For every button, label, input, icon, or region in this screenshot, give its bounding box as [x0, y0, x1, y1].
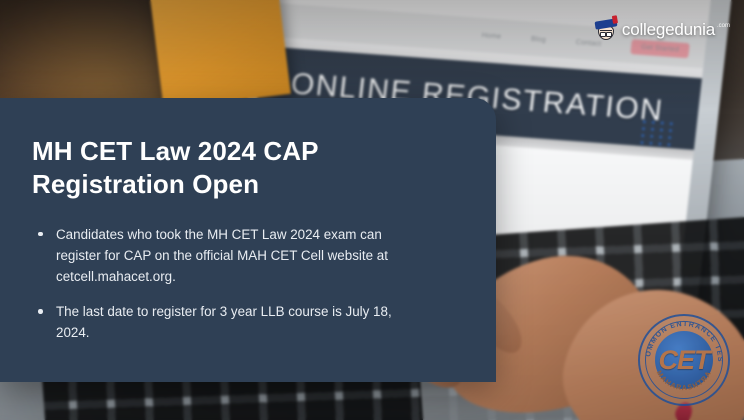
screen-nav-home: Home	[481, 32, 501, 40]
page-title: MH CET Law 2024 CAP Registration Open	[32, 135, 332, 202]
seal-arc-text: STATE COMMON ENTRANCE TEST CELL MAHARASH…	[638, 314, 730, 406]
sticky-note	[149, 0, 291, 109]
logo-tld: .com	[717, 23, 730, 29]
title-line-1: MH CET Law 2024 CAP	[32, 135, 332, 168]
seal-arc-bottom-text: MAHARASHTRA	[655, 369, 714, 392]
title-line-2: Registration Open	[32, 168, 332, 201]
info-card: MH CET Law 2024 CAP Registration Open Ca…	[0, 98, 496, 382]
cet-seal-watermark: CET STATE COMMON ENTRANCE TEST CELL MAHA…	[638, 314, 730, 406]
screen-get-started-button: Get Started	[630, 39, 690, 58]
screen-nav-blog: Blog	[531, 35, 547, 43]
poster-stage: Home Blog Contact Get Started ONLINE REG…	[0, 0, 744, 420]
screen-dot-grid-decoration	[640, 120, 675, 146]
logo-wordmark: collegedunia	[622, 20, 715, 40]
graduate-mascot-icon	[595, 19, 617, 41]
collegedunia-logo[interactable]: collegedunia .com	[595, 19, 730, 41]
list-item: Candidates who took the MH CET Law 2024 …	[32, 224, 392, 288]
seal-arc-top-text: STATE COMMON ENTRANCE TEST CELL	[638, 314, 725, 363]
list-item: The last date to register for 3 year LLB…	[32, 301, 392, 343]
bullet-list: Candidates who took the MH CET Law 2024 …	[32, 224, 456, 344]
